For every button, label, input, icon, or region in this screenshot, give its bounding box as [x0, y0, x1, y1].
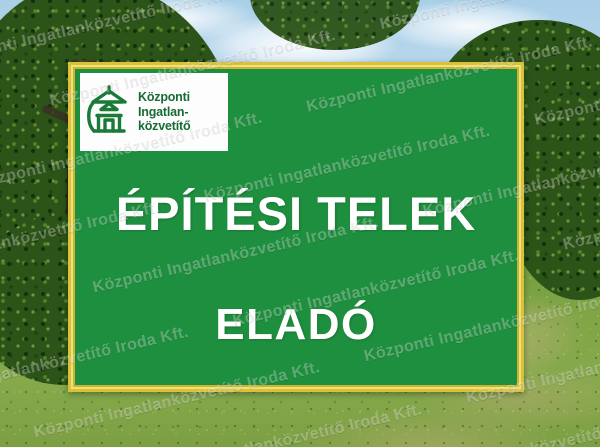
sign-green-face: Központi Ingatlan- közvetítő ÉPÍTÉSI TEL… — [75, 69, 517, 385]
logo-line-3: közvetítő — [138, 119, 190, 134]
company-logo-text: Központi Ingatlan- közvetítő — [138, 90, 190, 134]
sign-headline-secondary: ELADÓ — [75, 301, 517, 349]
company-logo-block: Központi Ingatlan- közvetítő — [80, 73, 228, 151]
photo-scene: Központi Ingatlan- közvetítő ÉPÍTÉSI TEL… — [0, 0, 600, 447]
logo-line-2: Ingatlan- — [138, 105, 190, 120]
pagoda-house-icon — [85, 84, 133, 140]
sign-headline-primary: ÉPÍTÉSI TELEK — [75, 189, 517, 239]
real-estate-sign-board: Központi Ingatlan- közvetítő ÉPÍTÉSI TEL… — [68, 62, 524, 392]
logo-line-1: Központi — [138, 90, 190, 105]
sign-gold-frame: Központi Ingatlan- közvetítő ÉPÍTÉSI TEL… — [71, 65, 521, 389]
